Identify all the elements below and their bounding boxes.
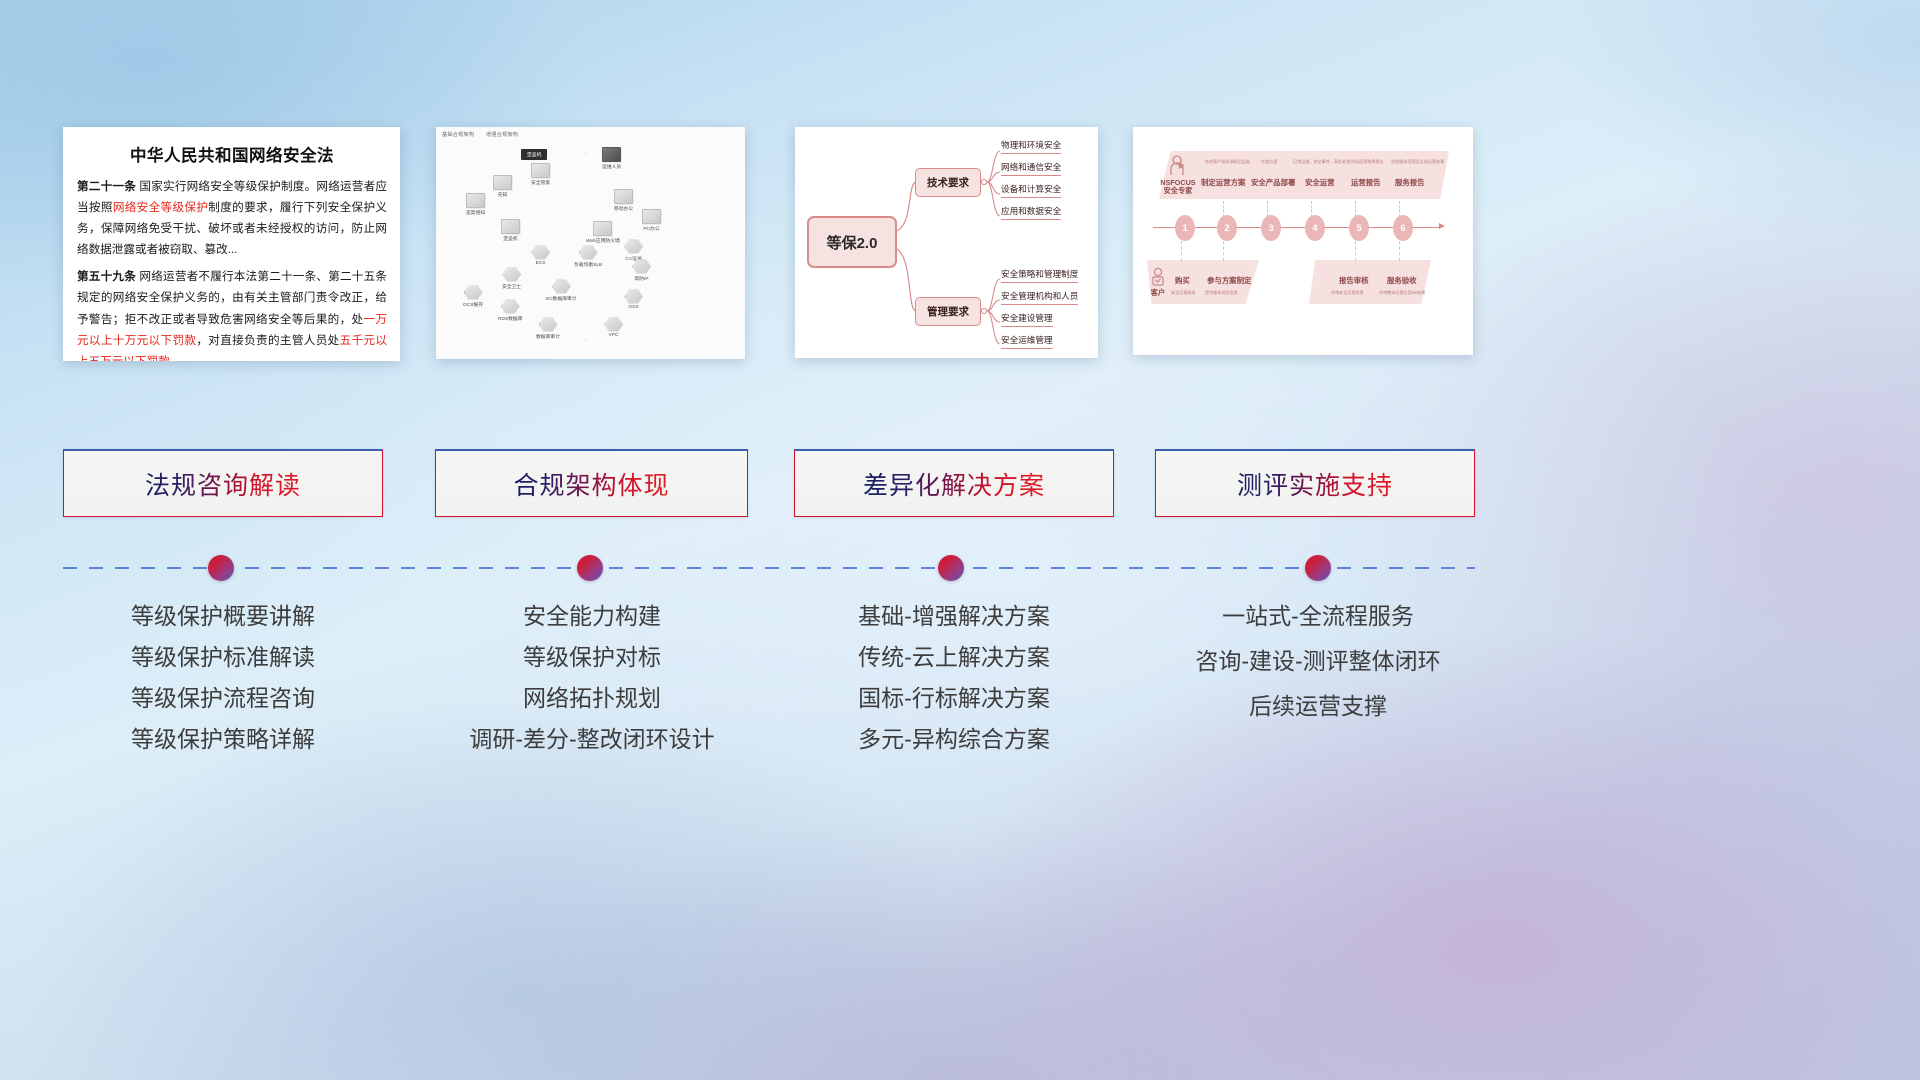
timeline-sub-4: 日常运维、安全事件、高危处理 — [1293, 159, 1350, 165]
architecture-node-ecs: ECS — [531, 245, 550, 266]
customer-label: 客户 — [1147, 289, 1169, 297]
timeline-dash-b1 — [1181, 241, 1182, 261]
architecture-node-anquanweishi: 安全卫士 — [502, 267, 521, 290]
mindmap-branch-technical: 技术要求 — [915, 168, 981, 197]
list-item: 调研-差分-整改闭环设计 — [420, 728, 764, 751]
architecture-header-left: 基础合规架构 — [442, 132, 474, 138]
architecture-node-slb: 负载均衡SLB — [574, 245, 602, 268]
law-article-21-highlight: 网络安全等级保护 — [113, 201, 208, 214]
timeline-sub-6: 总结服务范围及达成运营效果 — [1391, 159, 1444, 165]
law-article-59: 第五十九条 网络运营者不履行本法第二十一条、第二十五条规定的网络安全保护义务的，… — [77, 266, 387, 361]
timeline-dash-2 — [1223, 201, 1224, 217]
title-box-label: 合规架构体现 — [513, 466, 669, 502]
architecture-node-anquanguanjia: 安全管家 — [531, 163, 550, 186]
architecture-node-gaofangip: 高防IP — [632, 259, 651, 282]
mindmap-leaf-network: 网络和通信安全 — [1001, 161, 1061, 176]
mindmap-leaf-construction: 安全建设管理 — [1001, 312, 1053, 327]
expert-person-icon — [1169, 155, 1185, 177]
timeline-cap-5: 运营报告 — [1351, 177, 1381, 188]
timeline-node-1: 1 — [1175, 215, 1195, 241]
customer-person-icon — [1151, 267, 1165, 287]
law-article-21-label: 第二十一条 — [77, 180, 136, 193]
list-item: 多元-异构综合方案 — [786, 728, 1122, 751]
image-card-row: 中华人民共和国网络安全法 第二十一条 国家实行网络安全等级保护制度。网络运营者应… — [0, 127, 1920, 362]
feature-column-differentiated-solution: 基础-增强解决方案 传统-云上解决方案 国标-行标解决方案 多元-异构综合方案 — [786, 605, 1122, 769]
architecture-header: 基础合规架构 增强合规架构 — [442, 131, 528, 138]
timeline-sub-3: 实施方案 — [1261, 159, 1277, 165]
architecture-node-vpc: VPC — [604, 317, 623, 338]
list-item: 传统-云上解决方案 — [786, 646, 1122, 669]
mindmap-leaf-application: 应用和数据安全 — [1001, 205, 1061, 220]
timeline-marker-4[interactable] — [1305, 555, 1331, 581]
mindmap-leaf-policy: 安全策略和管理制度 — [1001, 268, 1078, 283]
timeline-bottom-cap-2: 参与方案制定 — [1207, 275, 1251, 286]
title-box-differentiated-solution[interactable]: 差异化解决方案 — [794, 449, 1114, 517]
list-item: 等级保护对标 — [420, 646, 764, 669]
law-article-59-text-b: ，对直接负责的主管人员处 — [196, 334, 339, 347]
title-box-label: 法规咨询解读 — [145, 466, 301, 502]
timeline-node-3: 3 — [1261, 215, 1281, 241]
architecture-node-pcbangong: PC办公 — [642, 209, 661, 232]
timeline-dash-b4 — [1399, 241, 1400, 261]
architecture-node-waf: Web应用防火墙 — [586, 221, 620, 244]
timeline-dash-3 — [1267, 201, 1268, 217]
list-item: 等级保护流程咨询 — [55, 687, 391, 710]
timeline-cap-3: 安全产品部署 — [1251, 177, 1295, 188]
title-box-compliance-architecture[interactable]: 合规架构体现 — [435, 449, 748, 517]
timeline-bottom-cap-1: 购买 — [1175, 275, 1190, 286]
list-item: 等级保护标准解读 — [55, 646, 391, 669]
law-title: 中华人民共和国网络安全法 — [77, 142, 387, 166]
timeline-dash-6 — [1399, 201, 1400, 217]
timeline-cap-2: 制定运营方案 — [1201, 177, 1245, 188]
architecture-node-xianzhi: 先知 — [493, 175, 512, 198]
mindmap-leaf-physical: 物理和环境安全 — [1001, 139, 1061, 154]
list-item: 国标-行标解决方案 — [786, 687, 1122, 710]
card-cloud-architecture[interactable]: 基础合规架构 增强合规架构 堡垒机 先知 态势感知 安全管家 运维人员 堡垒机 … — [436, 127, 745, 359]
timeline-node-6: 6 — [1393, 215, 1413, 241]
timeline-dash-b2 — [1223, 241, 1224, 261]
architecture-banner: 堡垒机 — [521, 149, 547, 160]
title-box-label: 测评实施支持 — [1237, 466, 1393, 502]
mindmap-root-node: 等保2.0 — [807, 216, 897, 268]
feature-column-compliance-architecture: 安全能力构建 等级保护对标 网络拓扑规划 调研-差分-整改闭环设计 — [420, 605, 764, 769]
title-box-assessment-support[interactable]: 测评实施支持 — [1155, 449, 1475, 517]
timeline-node-2: 2 — [1217, 215, 1237, 241]
architecture-node-shishigangzhi: 态势感知 — [466, 193, 485, 216]
architecture-node-dbaudit: 数据库审计 — [536, 317, 560, 340]
list-item: 网络拓扑规划 — [420, 687, 764, 710]
timeline-bottom-cap-4: 服务验收 — [1387, 275, 1417, 286]
timeline-marker-2[interactable] — [577, 555, 603, 581]
timeline-bottom-sub-1: 安全运营服务 — [1171, 290, 1196, 296]
mindmap-leaf-org: 安全管理机构和人员 — [1001, 290, 1078, 305]
architecture-header-right: 增强合规架构 — [486, 132, 518, 138]
list-item: 咨询-建设-测评整体闭环 — [1150, 650, 1486, 673]
timeline-node-4: 4 — [1305, 215, 1325, 241]
architecture-node-yidongbangong: 移动办公 — [614, 189, 633, 212]
list-item: 一站式-全流程服务 — [1150, 605, 1486, 628]
law-article-59-label: 第五十九条 — [77, 270, 136, 283]
timeline-dashed-line — [63, 567, 1475, 569]
timeline-dash-4 — [1311, 201, 1312, 217]
architecture-node-oss: OSS — [624, 289, 643, 310]
architecture-node-rds: RDS数据库 — [498, 299, 523, 322]
timeline-bottom-cap-3: 报告审核 — [1339, 275, 1369, 286]
architecture-node-baoleiji: 堡垒机 — [501, 219, 520, 242]
feature-column-assessment-support: 一站式-全流程服务 咨询-建设-测评整体闭环 后续运营支撑 — [1150, 605, 1486, 740]
card-cybersecurity-law[interactable]: 中华人民共和国网络安全法 第二十一条 国家实行网络安全等级保护制度。网络运营者应… — [63, 127, 400, 361]
title-box-regulation-consulting[interactable]: 法规咨询解读 — [63, 449, 383, 517]
timeline-dash-b3 — [1355, 241, 1356, 261]
architecture-node-ocs: OCS缓存 — [463, 285, 483, 308]
timeline-marker-1[interactable] — [208, 555, 234, 581]
list-item: 等级保护策略详解 — [55, 728, 391, 751]
law-article-21: 第二十一条 国家实行网络安全等级保护制度。网络运营者应当按照网络安全等级保护制度… — [77, 176, 387, 260]
feature-column-regulation-consulting: 等级保护概要讲解 等级保护标准解读 等级保护流程咨询 等级保护策略详解 — [55, 605, 391, 769]
architecture-node-yunwei: 运维人员 — [602, 147, 621, 170]
law-article-59-text-c: 。 — [170, 355, 182, 361]
architecture-node-ecdb: EC数据库审计 — [546, 279, 577, 302]
timeline-bottom-sub-3: 评审安全运营效果 — [1331, 290, 1364, 296]
list-item: 后续运营支撑 — [1150, 695, 1486, 718]
list-item: 基础-增强解决方案 — [786, 605, 1122, 628]
timeline-marker-3[interactable] — [938, 555, 964, 581]
timeline-arrow-icon — [1439, 223, 1445, 229]
timeline-node-5: 5 — [1349, 215, 1369, 241]
card-service-timeline[interactable]: NSFOCUS 安全专家 1 2 3 4 5 6 — [1133, 127, 1473, 355]
timeline-dash-5 — [1355, 201, 1356, 217]
list-item: 等级保护概要讲解 — [55, 605, 391, 628]
card-mindmap-dengbao[interactable]: 等保2.0 技术要求 管理要求 物理和环境安全 网络和通信安全 设备和计算安全 … — [795, 127, 1098, 358]
timeline-cap-6: 服务报告 — [1395, 177, 1425, 188]
mindmap-leaf-device: 设备和计算安全 — [1001, 183, 1061, 198]
mindmap-branch-management: 管理要求 — [915, 297, 981, 326]
timeline-bottom-sub-2: 提供基本现状信息 — [1205, 290, 1238, 296]
timeline-sub-5: 阶段运营效果报告 — [1351, 159, 1384, 165]
timeline-bottom-sub-4: 评审整体运营方案και效果 — [1379, 290, 1425, 296]
mindmap-leaf-operation: 安全运维管理 — [1001, 334, 1053, 349]
timeline-cap-4: 安全运营 — [1305, 177, 1335, 188]
expert-label: NSFOCUS 安全专家 — [1155, 179, 1201, 196]
timeline-sub-2: 结合客户现状调研后出具 — [1205, 159, 1250, 165]
title-box-label: 差异化解决方案 — [863, 466, 1045, 502]
list-item: 安全能力构建 — [420, 605, 764, 628]
title-box-row: 法规咨询解读 合规架构体现 差异化解决方案 测评实施支持 — [0, 449, 1920, 519]
